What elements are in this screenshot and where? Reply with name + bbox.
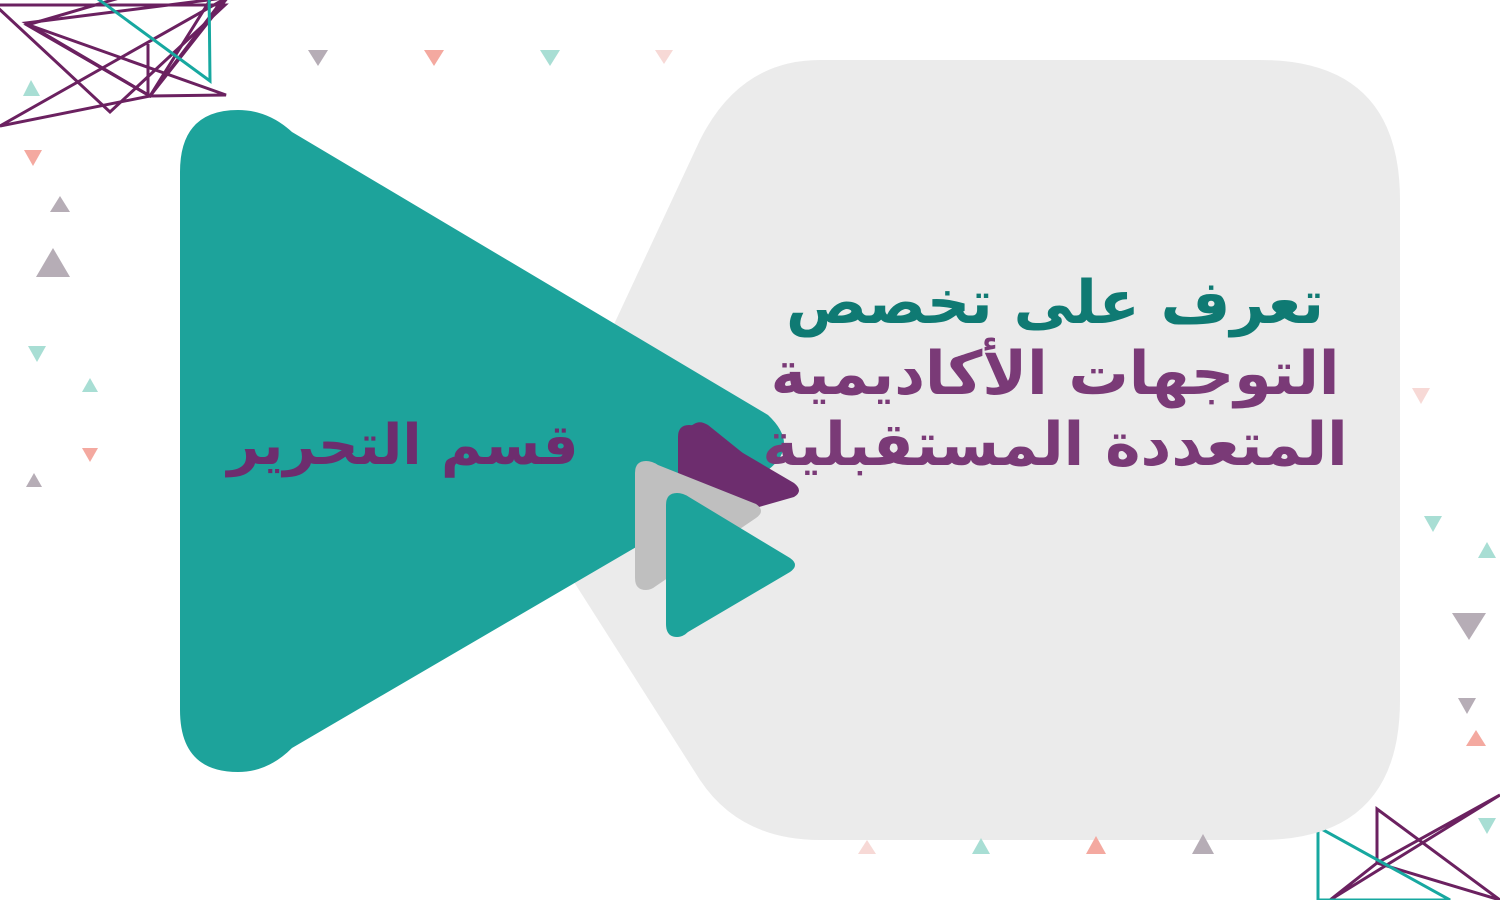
headline-line-3: المتعددة المستقبلية [760,410,1350,481]
department-block: قسم التحرير [193,412,613,479]
department-label: قسم التحرير [193,412,613,479]
banner-canvas: تعرف على تخصص التوجهات الأكاديمية المتعد… [0,0,1500,900]
headline-line-1: تعرف على تخصص [760,268,1350,339]
headline-line-2: التوجهات الأكاديمية [760,339,1350,410]
text-layer: تعرف على تخصص التوجهات الأكاديمية المتعد… [0,0,1500,900]
headline-block: تعرف على تخصص التوجهات الأكاديمية المتعد… [760,268,1350,480]
